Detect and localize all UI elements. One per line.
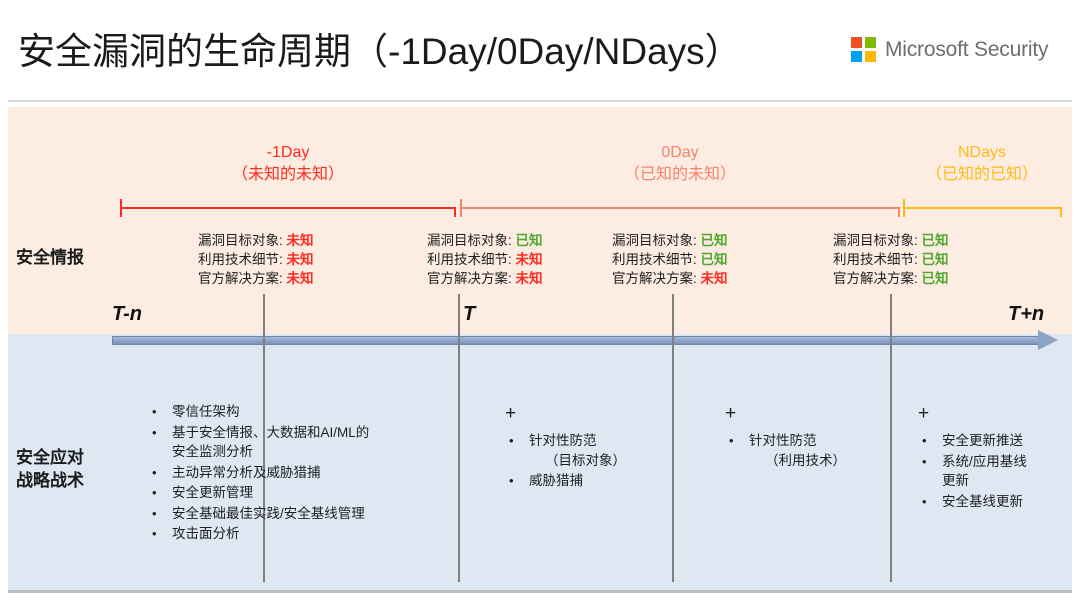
list-item: 攻击面分析 [148, 524, 448, 544]
plus-icon: + [918, 404, 1068, 423]
item-text: 针对性防范 [529, 433, 597, 448]
intel-key: 官方解决方案: [612, 271, 697, 286]
header-divider [8, 100, 1072, 102]
timeline-arrow-icon [1038, 330, 1058, 350]
intel-line: 漏洞目标对象: 已知 [427, 231, 543, 250]
list-item: 主动异常分析及威胁猎捕 [148, 463, 448, 483]
list-item: 零信任架构 [148, 402, 448, 422]
item-text-cont: （利用技术） [749, 451, 895, 471]
brace-center-tick [903, 199, 905, 208]
intel-key: 利用技术细节: [198, 252, 283, 267]
timeline-label-start: T-n [112, 303, 142, 326]
intel-value: 未知 [701, 271, 728, 286]
header: 安全漏洞的生命周期（-1Day/0Day/NDays） Microsoft Se… [0, 0, 1080, 104]
item-text: 系统/应用基线 [942, 454, 1027, 469]
brace-bar [120, 207, 456, 209]
intel-group-1: 漏洞目标对象: 未知 利用技术细节: 未知 官方解决方案: 未知 [198, 231, 314, 288]
intel-key: 利用技术细节: [833, 252, 918, 267]
intel-line: 官方解决方案: 未知 [198, 269, 314, 288]
logo-square-green [865, 37, 876, 48]
intel-value: 已知 [701, 252, 728, 267]
phase-subtitle: （已知的未知） [582, 164, 778, 186]
row-label-response-line2: 战略战术 [16, 471, 84, 490]
response-column-1: 零信任架构 基于安全情报、大数据和AI/ML的安全监测分析 主动异常分析及威胁猎… [148, 402, 448, 545]
plus-icon: + [505, 404, 675, 423]
intel-group-4: 漏洞目标对象: 已知 利用技术细节: 已知 官方解决方案: 已知 [833, 231, 949, 288]
intel-value: 未知 [287, 233, 314, 248]
plus-icon: + [725, 404, 895, 423]
timeline-label-mid: T [463, 303, 475, 326]
intel-key: 漏洞目标对象: [198, 233, 283, 248]
response-column-4: + 安全更新推送 系统/应用基线更新 安全基线更新 [918, 404, 1068, 512]
intel-line: 官方解决方案: 未知 [427, 269, 543, 288]
phase-title-0day: 0Day （已知的未知） [582, 142, 778, 186]
brace-center-tick [120, 199, 122, 208]
row-label-response-line1: 安全应对 [16, 448, 84, 467]
intel-key: 漏洞目标对象: [612, 233, 697, 248]
intel-line: 官方解决方案: 未知 [612, 269, 728, 288]
phase-subtitle: （未知的未知） [190, 164, 386, 186]
list-item: 安全更新管理 [148, 483, 448, 503]
item-text: 攻击面分析 [172, 526, 240, 541]
phase-subtitle: （已知的已知） [884, 164, 1080, 186]
microsoft-security-logo: Microsoft Security [851, 37, 1048, 62]
response-bullet-list: 针对性防范（利用技术） [725, 431, 895, 470]
intel-line: 漏洞目标对象: 未知 [198, 231, 314, 250]
list-item: 安全基础最佳实践/安全基线管理 [148, 504, 448, 524]
intel-value: 未知 [287, 252, 314, 267]
logo-square-blue [851, 51, 862, 62]
phase-name: NDays [884, 142, 1080, 164]
list-item: 安全基线更新 [918, 492, 1068, 512]
item-text-cont: 更新 [942, 471, 1068, 491]
brace-cap-left [120, 207, 122, 217]
item-text: 安全更新管理 [172, 485, 253, 500]
phase-brace-ndays [903, 199, 1062, 217]
intel-key: 漏洞目标对象: [427, 233, 512, 248]
phase-title-minus1day: -1Day （未知的未知） [190, 142, 386, 186]
item-text: 针对性防范 [749, 433, 817, 448]
intel-value: 已知 [922, 271, 949, 286]
intel-value: 未知 [516, 252, 543, 267]
phase-brace-minus1day [120, 199, 456, 217]
intel-key: 官方解决方案: [427, 271, 512, 286]
response-column-2: + 针对性防范（目标对象） 威胁猎捕 [505, 404, 675, 492]
row-label-response: 安全应对 战略战术 [16, 446, 84, 492]
list-item: 针对性防范（利用技术） [725, 431, 895, 470]
phase-title-ndays: NDays （已知的已知） [884, 142, 1080, 186]
intel-line: 利用技术细节: 已知 [833, 250, 949, 269]
intel-line: 漏洞目标对象: 已知 [612, 231, 728, 250]
brace-center-tick [460, 199, 462, 208]
row-label-intelligence: 安全情报 [16, 246, 84, 269]
list-item: 威胁猎捕 [505, 471, 675, 491]
intel-key: 官方解决方案: [833, 271, 918, 286]
intel-line: 官方解决方案: 已知 [833, 269, 949, 288]
intel-group-2: 漏洞目标对象: 已知 利用技术细节: 未知 官方解决方案: 未知 [427, 231, 543, 288]
item-text: 基于安全情报、大数据和AI/ML的 [172, 425, 369, 440]
intel-key: 利用技术细节: [612, 252, 697, 267]
phase-name: 0Day [582, 142, 778, 164]
timeline-axis [112, 336, 1042, 345]
item-text-cont: （目标对象） [529, 451, 675, 471]
intel-value: 已知 [701, 233, 728, 248]
item-text: 威胁猎捕 [529, 473, 583, 488]
item-text-cont: 安全监测分析 [172, 442, 448, 462]
brace-bar [460, 207, 900, 209]
list-item: 针对性防范（目标对象） [505, 431, 675, 470]
logo-wordmark: Microsoft Security [885, 38, 1048, 62]
brace-cap-right [898, 207, 900, 217]
brace-cap-right [1060, 207, 1062, 217]
response-bullet-list: 零信任架构 基于安全情报、大数据和AI/ML的安全监测分析 主动异常分析及威胁猎… [148, 402, 448, 544]
page-title: 安全漏洞的生命周期（-1Day/0Day/NDays） [18, 27, 742, 77]
phase-brace-0day [460, 199, 900, 217]
intel-line: 利用技术细节: 未知 [427, 250, 543, 269]
brace-cap-left [460, 207, 462, 217]
brace-bar [903, 207, 1062, 209]
intel-value: 已知 [516, 233, 543, 248]
list-item: 安全更新推送 [918, 431, 1068, 451]
phase-name: -1Day [190, 142, 386, 164]
list-item: 基于安全情报、大数据和AI/ML的安全监测分析 [148, 423, 448, 462]
intel-value: 已知 [922, 233, 949, 248]
intel-value: 已知 [922, 252, 949, 267]
item-text: 安全更新推送 [942, 433, 1023, 448]
intel-key: 官方解决方案: [198, 271, 283, 286]
bottom-divider [8, 590, 1072, 593]
item-text: 零信任架构 [172, 404, 240, 419]
item-text: 安全基础最佳实践/安全基线管理 [172, 506, 365, 521]
logo-square-red [851, 37, 862, 48]
intel-line: 利用技术细节: 未知 [198, 250, 314, 269]
intel-key: 利用技术细节: [427, 252, 512, 267]
item-text: 安全基线更新 [942, 494, 1023, 509]
intel-group-3: 漏洞目标对象: 已知 利用技术细节: 已知 官方解决方案: 未知 [612, 231, 728, 288]
response-column-3: + 针对性防范（利用技术） [725, 404, 895, 471]
logo-square-yellow [865, 51, 876, 62]
brace-cap-right [454, 207, 456, 217]
item-text: 主动异常分析及威胁猎捕 [172, 465, 321, 480]
list-item: 系统/应用基线更新 [918, 452, 1068, 491]
column-divider-2 [458, 294, 460, 582]
response-bullet-list: 针对性防范（目标对象） 威胁猎捕 [505, 431, 675, 491]
microsoft-logo-icon [851, 37, 876, 62]
timeline-label-end: T+n [1008, 303, 1044, 326]
response-bullet-list: 安全更新推送 系统/应用基线更新 安全基线更新 [918, 431, 1068, 511]
brace-cap-left [903, 207, 905, 217]
intel-line: 利用技术细节: 已知 [612, 250, 728, 269]
intel-value: 未知 [287, 271, 314, 286]
intel-key: 漏洞目标对象: [833, 233, 918, 248]
intel-line: 漏洞目标对象: 已知 [833, 231, 949, 250]
intel-value: 未知 [516, 271, 543, 286]
